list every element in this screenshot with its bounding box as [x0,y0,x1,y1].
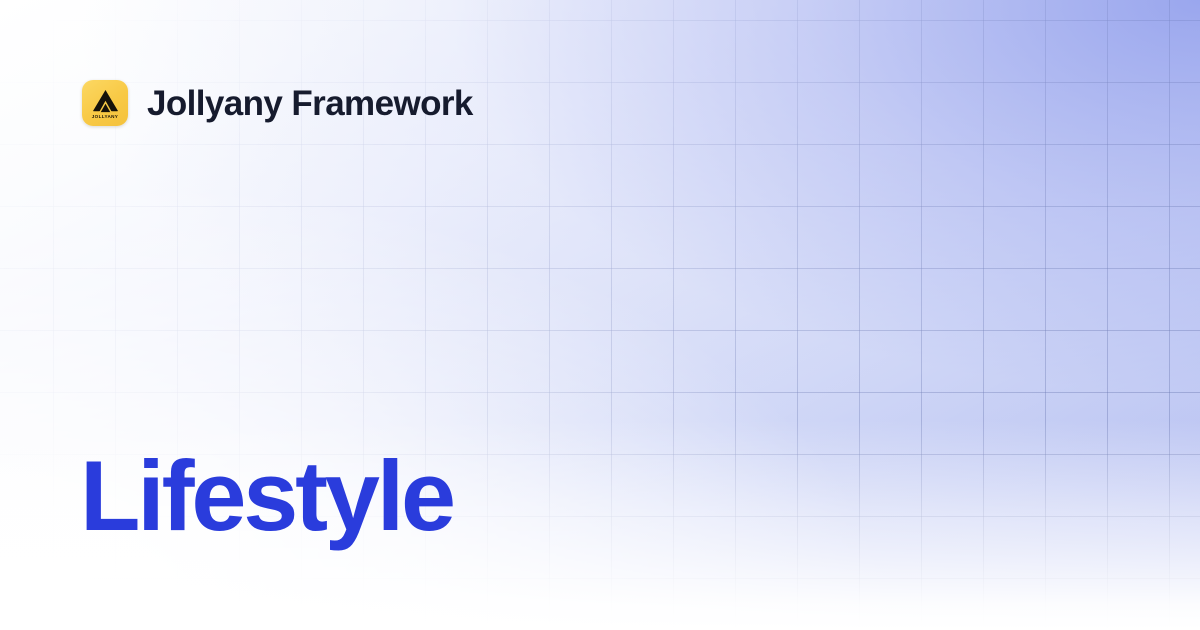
og-banner: JOLLYANY Jollyany Framework Lifestyle [0,0,1200,630]
logo-wordmark: JOLLYANY [92,115,118,120]
page-title: Lifestyle [80,446,453,545]
brand-title: Jollyany Framework [147,86,473,121]
brand-row[interactable]: JOLLYANY Jollyany Framework [82,80,473,126]
jollyany-triangle-logo-icon [92,89,119,113]
jollyany-logo-badge[interactable]: JOLLYANY [82,80,128,126]
